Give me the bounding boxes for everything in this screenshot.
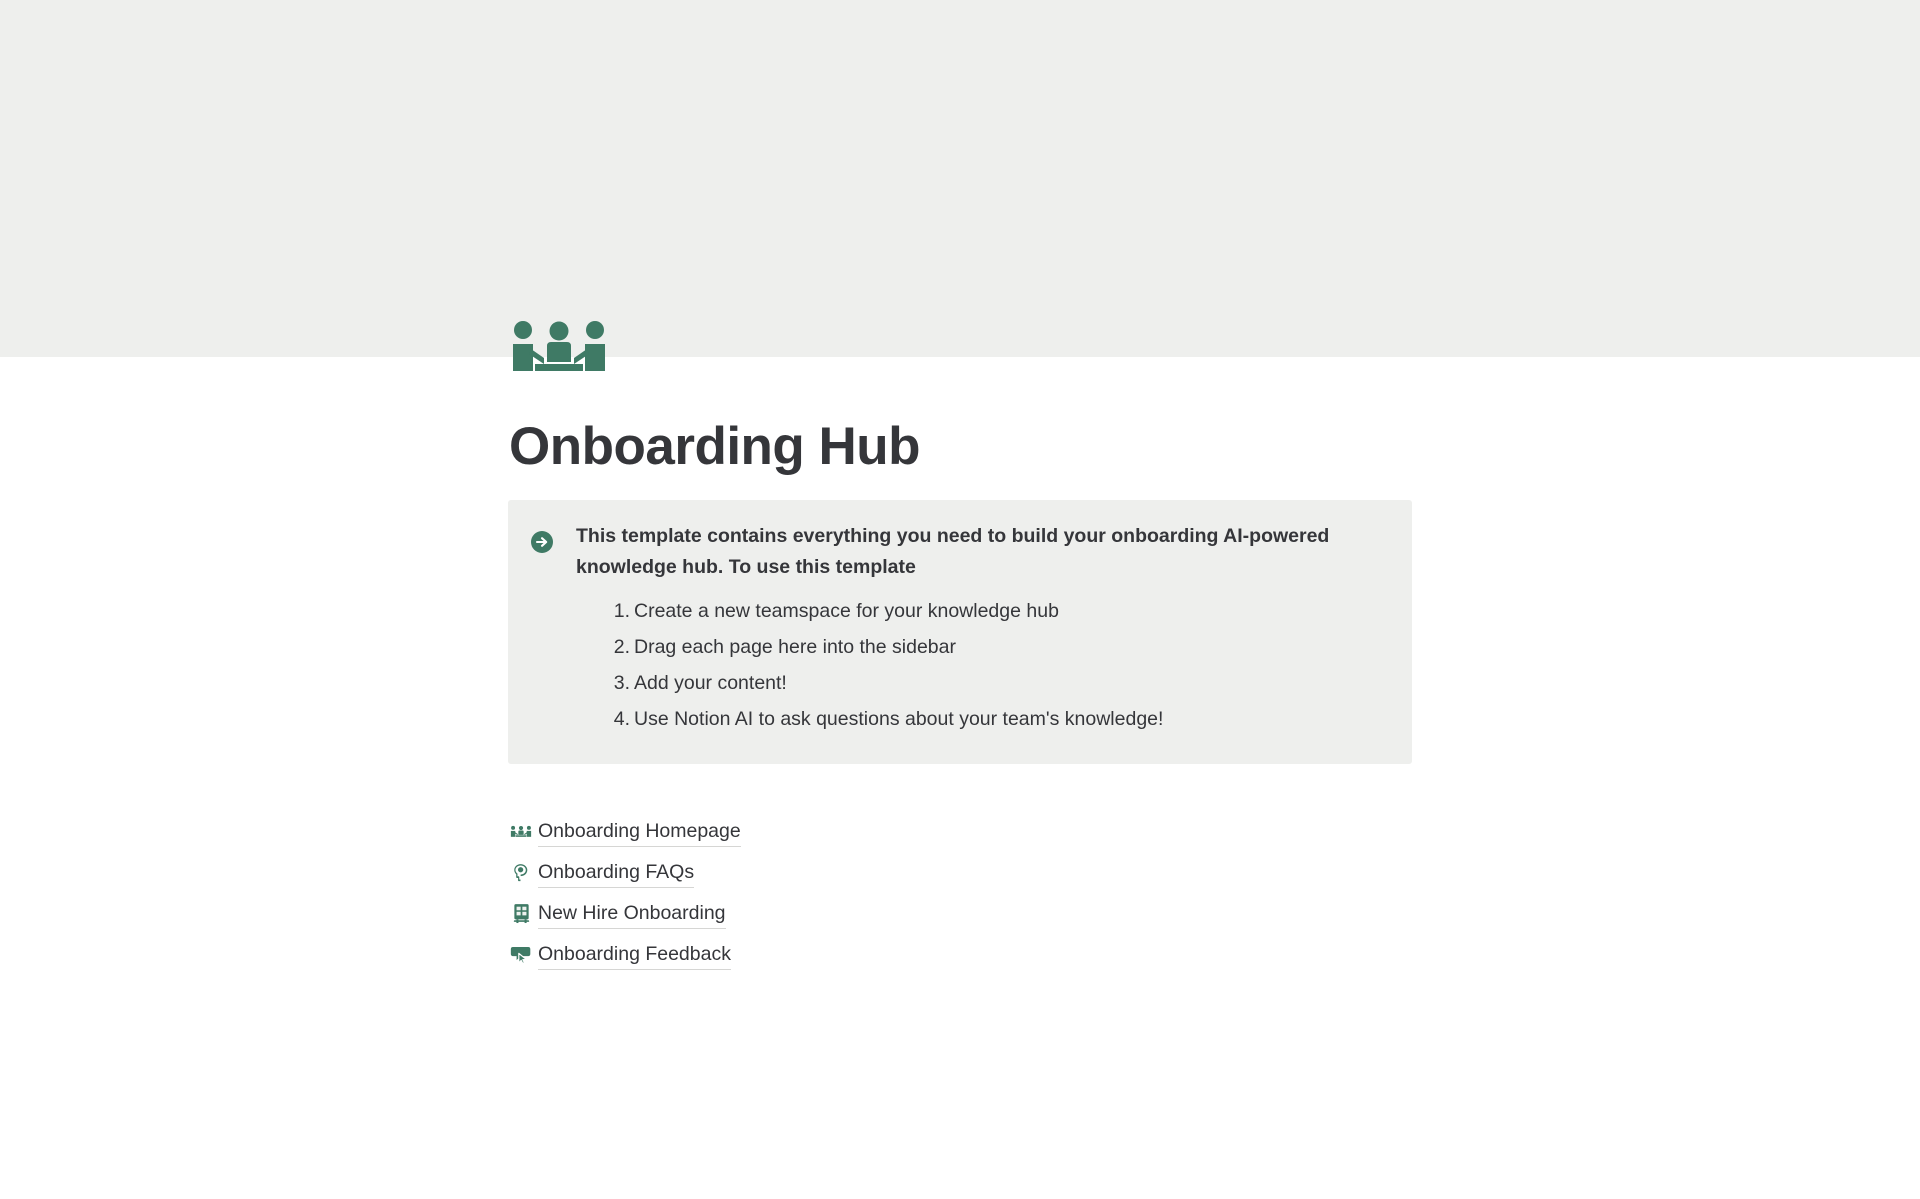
notion-page: Onboarding Hub This template contains ev…: [0, 0, 1920, 1199]
list-item: Create a new teamspace for your knowledg…: [610, 593, 1388, 629]
speech-bubble-cursor-icon: [509, 943, 533, 967]
list-item: Add your content!: [610, 665, 1388, 701]
page-link-onboarding-homepage[interactable]: Onboarding Homepage: [509, 815, 1413, 848]
people-at-table-icon[interactable]: [509, 320, 609, 378]
list-item: Drag each page here into the sidebar: [610, 629, 1388, 665]
page-link-label: New Hire Onboarding: [538, 899, 726, 929]
page-link-onboarding-feedback[interactable]: Onboarding Feedback: [509, 938, 1413, 971]
people-at-table-icon: [509, 820, 533, 844]
page-title: Onboarding Hub: [509, 415, 920, 479]
page-link-onboarding-faqs[interactable]: Onboarding FAQs: [509, 856, 1413, 889]
list-item: Use Notion AI to ask questions about you…: [610, 701, 1388, 737]
callout-block: This template contains everything you ne…: [508, 500, 1412, 764]
page-link-label: Onboarding FAQs: [538, 858, 694, 888]
callout-heading: This template contains everything you ne…: [576, 521, 1376, 583]
page-cover: [0, 0, 1920, 357]
page-link-label: Onboarding Homepage: [538, 817, 741, 847]
page-links-list: Onboarding Homepage Onboarding FAQs: [509, 815, 1413, 979]
arrow-right-circle-icon: [530, 530, 554, 554]
tram-icon: [509, 902, 533, 926]
page-link-new-hire-onboarding[interactable]: New Hire Onboarding: [509, 897, 1413, 930]
callout-content: This template contains everything you ne…: [576, 518, 1388, 737]
page-link-label: Onboarding Feedback: [538, 940, 731, 970]
head-lightbulb-icon: [509, 861, 533, 885]
steps-list: Create a new teamspace for your knowledg…: [576, 593, 1388, 737]
